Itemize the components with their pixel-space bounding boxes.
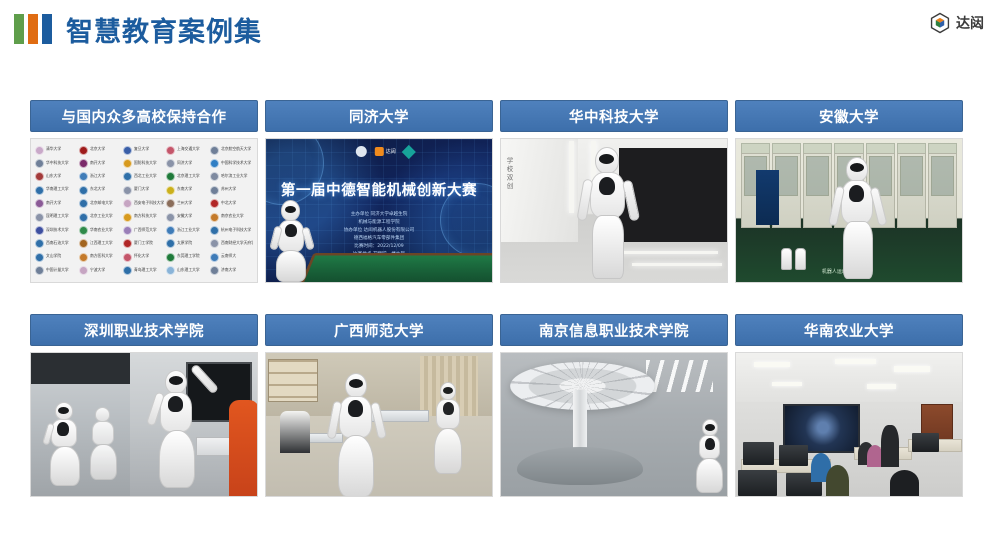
case-card-grid: 与国内众多高校保持合作 清华大学北京大学复旦大学上海交通大学北京航空航天大学华中… [30, 100, 970, 528]
service-robot-illustration [695, 419, 725, 493]
university-seal-icon [35, 226, 44, 235]
university-logo-item: 同济大学 [166, 157, 209, 169]
grid-cell: 深圳职业技术学院 [30, 314, 265, 528]
monitor-decoration [743, 442, 775, 465]
case-card[interactable]: 广西师范大学 [265, 314, 493, 497]
university-seal-icon [210, 213, 219, 222]
case-card[interactable]: 同济大学 达闼 第一届中德智能机械创新大赛 [265, 100, 493, 283]
case-card[interactable]: 与国内众多高校保持合作 清华大学北京大学复旦大学上海交通大学北京航空航天大学华中… [30, 100, 258, 283]
university-logo-item: 太原学院 [166, 238, 209, 250]
university-logo-item: 北京理工大学 [166, 171, 209, 183]
university-name-label: 北京工业大学 [90, 215, 113, 219]
ceiling-light-panel-decoration [772, 382, 801, 386]
university-seal-icon [123, 146, 132, 155]
university-name-label: 中国计量大学 [46, 269, 69, 273]
brand-name: 达闼 [956, 13, 984, 33]
university-logo-item: 东莞理工学院 [166, 251, 209, 263]
university-logo-item: 北京邮电大学 [79, 198, 122, 210]
case-card[interactable]: 安徽大学 [735, 100, 963, 283]
university-seal-icon [35, 239, 44, 248]
university-name-label: 华南农业大学 [90, 229, 113, 233]
university-name-label: 济南大学 [221, 269, 236, 273]
university-logo-item: 山东大学 [35, 171, 78, 183]
university-name-label: 清华大学 [46, 148, 61, 152]
monitor-decoration [738, 470, 776, 496]
university-seal-icon [210, 266, 219, 275]
university-seal-icon [35, 159, 44, 168]
university-name-label: 复旦大学 [134, 148, 149, 152]
slide-header: 智慧教育案例集 达闼 [0, 0, 1000, 58]
university-seal-icon [79, 146, 88, 155]
university-logo-item: 山东理工大学 [166, 265, 209, 277]
banner-logo-row: 达闼 [356, 146, 414, 157]
competition-banner-photo: 达闼 第一届中德智能机械创新大赛 主办单位 同济大学卓越生院机械与能源工程学院协… [266, 139, 492, 282]
monitor-decoration [912, 433, 939, 452]
university-logo-item: 文山学院 [35, 251, 78, 263]
university-logo-item: 清华大学 [35, 144, 78, 156]
university-seal-icon [210, 186, 219, 195]
student-decoration [890, 470, 919, 496]
university-logo-item: 中北大学 [210, 198, 253, 210]
university-seal-icon [166, 253, 175, 262]
university-name-label: 兰州大学 [177, 202, 192, 206]
university-logo-item: 复旦大学 [123, 144, 166, 156]
university-logo-item: 北京工业大学 [79, 211, 122, 223]
university-seal-icon [210, 239, 219, 248]
university-name-label: 南开大学 [90, 162, 105, 166]
card-media [265, 352, 493, 497]
grid-cell: 华南农业大学 [735, 314, 970, 528]
university-name-label: 西北工业大学 [134, 175, 157, 179]
university-logo-item: 济南大学 [210, 265, 253, 277]
ceiling-light-panel-decoration [835, 359, 876, 365]
university-seal-icon [35, 172, 44, 181]
university-name-label: 东北大学 [90, 188, 105, 192]
university-logo-item: 广西师范大学 [123, 224, 166, 236]
card-media [500, 352, 728, 497]
card-title: 与国内众多高校保持合作 [30, 100, 258, 132]
lab-cabinets-robot-photo: 机器人运动展示中 [736, 139, 962, 282]
seated-person-decoration [280, 411, 310, 453]
university-logo-item: 宁波大学 [79, 265, 122, 277]
university-seal-icon [79, 172, 88, 181]
humanoid-robot-illustration [151, 370, 203, 488]
university-seal-icon [210, 253, 219, 262]
university-logo-item: 中国科学技术大学 [210, 157, 253, 169]
partner-logo-icon [402, 144, 416, 158]
service-robot-illustration [45, 402, 85, 486]
university-seal-icon [123, 172, 132, 181]
university-logo-item: 南开大学 [35, 198, 78, 210]
university-name-label: 哈尔滨工业大学 [221, 175, 247, 179]
university-name-label: 国防科技大学 [134, 162, 157, 166]
university-seal-icon [79, 239, 88, 248]
hexagon-cube-logo-icon [929, 12, 951, 34]
blue-poster-decoration [756, 170, 779, 224]
case-card[interactable]: 深圳职业技术学院 [30, 314, 258, 497]
university-name-label: 山东理工大学 [177, 269, 200, 273]
university-logo-item: 华南理工大学 [35, 184, 78, 196]
university-name-label: 东莞理工学院 [177, 255, 200, 259]
university-seal-icon [123, 186, 132, 195]
university-name-label: 山东大学 [46, 175, 61, 179]
university-seal-icon [166, 199, 175, 208]
university-name-label: 同济大学 [177, 162, 192, 166]
grid-cell: 南京信息职业技术学院 [500, 314, 735, 528]
university-name-label: 中国科学技术大学 [221, 162, 251, 166]
university-logo-item: 中国计量大学 [35, 265, 78, 277]
university-seal-icon [166, 226, 175, 235]
university-seal-icon [35, 266, 44, 275]
humanoid-robot-illustration [272, 200, 312, 282]
university-seal-icon [166, 146, 175, 155]
card-title: 同济大学 [265, 100, 493, 132]
university-logo-item: 云南师大 [210, 251, 253, 263]
university-seal-icon [210, 199, 219, 208]
ceiling-light-panel-decoration [754, 362, 790, 368]
card-media: 达闼 第一届中德智能机械创新大赛 主办单位 同济大学卓越生院机械与能源工程学院协… [265, 138, 493, 283]
university-seal-icon [210, 226, 219, 235]
university-seal-icon [35, 213, 44, 222]
university-name-label: 文山学院 [46, 255, 61, 259]
grid-cell: 华中科技大学 学校双创 [500, 100, 735, 314]
university-name-label: 南开大学 [46, 202, 61, 206]
university-name-label: 深圳技术大学 [46, 229, 69, 233]
university-name-label: 浙江大学 [90, 175, 105, 179]
ceiling-light-panel-decoration [867, 384, 896, 388]
pool-table-decoration [299, 253, 492, 282]
grid-cell: 广西师范大学 [265, 314, 500, 528]
atrium-circular-ceiling-photo [501, 353, 727, 496]
university-seal-icon [35, 253, 44, 262]
university-seal-icon [210, 146, 219, 155]
computer-classroom-photo [736, 353, 962, 496]
card-media: 学校双创 [500, 138, 728, 283]
card-title: 南京信息职业技术学院 [500, 314, 728, 346]
university-seal-icon [35, 186, 44, 195]
bookshelf-decoration [268, 359, 318, 402]
card-media [735, 352, 963, 497]
university-logo-item: 怀化大学 [123, 251, 166, 263]
university-logo-item: 东北大学 [79, 184, 122, 196]
classroom-two-robots-photo [266, 353, 492, 496]
university-name-label: 华中科技大学 [46, 162, 69, 166]
grid-cell: 安徽大学 [735, 100, 970, 314]
university-name-label: 厦门大学 [134, 188, 149, 192]
humanoid-robot-illustration [429, 382, 467, 474]
university-seal-icon [79, 159, 88, 168]
card-title: 广西师范大学 [265, 314, 493, 346]
humanoid-robot-illustration [329, 373, 383, 496]
university-seal-icon [166, 213, 175, 222]
university-name-label: 苏州大学 [221, 188, 236, 192]
university-name-label: 西南石油大学 [46, 242, 69, 246]
university-logo-wall: 清华大学北京大学复旦大学上海交通大学北京航空航天大学华中科技大学南开大学国防科技… [31, 139, 257, 282]
humanoid-robot-illustration [578, 147, 636, 279]
university-logo-item: 南开大学 [79, 157, 122, 169]
university-name-label: 昆明理工大学 [46, 215, 69, 219]
ceiling-light-panel-decoration [894, 366, 930, 372]
monitor-decoration [779, 445, 808, 466]
university-logo-item: 青岛理工大学 [123, 265, 166, 277]
university-logo-item: 华中科技大学 [35, 157, 78, 169]
university-logo-item: 厦门工学院 [123, 238, 166, 250]
light-strip-decoration [632, 263, 722, 266]
university-seal-icon [35, 199, 44, 208]
page-title: 智慧教育案例集 [66, 10, 262, 49]
university-logo-item: 昆明理工大学 [35, 211, 78, 223]
university-seal-icon [123, 266, 132, 275]
university-seal-icon [210, 159, 219, 168]
accent-bar-blue [42, 14, 52, 44]
student-decoration [826, 465, 849, 496]
university-name-label: 太原学院 [177, 242, 192, 246]
brand-lockup: 达闼 [929, 12, 984, 34]
dada-logo-icon: 达闼 [375, 147, 396, 156]
university-logo-item: 浙江工业大学 [166, 224, 209, 236]
university-seal-icon [123, 159, 132, 168]
card-media [30, 352, 258, 497]
corridor-robot-photo: 学校双创 [501, 139, 727, 282]
accent-bars-decoration [14, 14, 52, 44]
university-logo-item: 安徽大学 [166, 211, 209, 223]
university-name-label: 江西理工大学 [90, 242, 113, 246]
card-media: 清华大学北京大学复旦大学上海交通大学北京航空航天大学华中科技大学南开大学国防科技… [30, 138, 258, 283]
university-name-label: 北京大学 [90, 148, 105, 152]
curved-counter-decoration [517, 447, 644, 484]
university-logo-item: 西南石油大学 [35, 238, 78, 250]
university-seal-icon [79, 186, 88, 195]
university-logo-item: 杭州电子科技大学 [210, 224, 253, 236]
university-name-label: 西安电子科技大学 [134, 202, 164, 206]
university-name-label: 南京农业大学 [221, 215, 244, 219]
university-name-label: 北京航空航天大学 [221, 148, 251, 152]
case-card[interactable]: 南京信息职业技术学院 [500, 314, 728, 497]
university-logo-item: 西北工业大学 [123, 171, 166, 183]
card-title: 华南农业大学 [735, 314, 963, 346]
university-logo-item: 南方医科大学 [79, 251, 122, 263]
university-name-label: 东南大学 [177, 188, 192, 192]
humanoid-robot-illustration [831, 157, 883, 279]
university-name-label: 杭州电子科技大学 [221, 229, 251, 233]
university-seal-icon [166, 266, 175, 275]
card-title: 安徽大学 [735, 100, 963, 132]
university-name-label: 上海交通大学 [177, 148, 200, 152]
university-logo-item: 深圳技术大学 [35, 224, 78, 236]
university-logo-item: 华南农业大学 [79, 224, 122, 236]
university-logo-item: 西南财经大学天府学院 [210, 238, 253, 250]
university-name-label: 中北大学 [221, 202, 236, 206]
card-title: 华中科技大学 [500, 100, 728, 132]
grid-cell: 与国内众多高校保持合作 清华大学北京大学复旦大学上海交通大学北京航空航天大学华中… [30, 100, 265, 314]
accent-bar-orange [28, 14, 38, 44]
photo-panel-left [31, 353, 130, 496]
university-seal-icon [79, 253, 88, 262]
light-strip-decoration [569, 141, 574, 213]
university-name-label: 宁波大学 [90, 269, 105, 273]
ceiling-lights-decoration [646, 360, 714, 391]
card-title: 深圳职业技术学院 [30, 314, 258, 346]
university-logo-item: 浙江大学 [79, 171, 122, 183]
university-name-label: 云南师大 [221, 255, 236, 259]
banner-headline: 第一届中德智能机械创新大赛 [266, 179, 492, 200]
exhibition-two-panel-photo [31, 353, 257, 496]
university-name-label: 南方医科大学 [90, 255, 113, 259]
wall-vertical-text: 学校双创 [504, 157, 514, 191]
university-logo-item: 北京航空航天大学 [210, 144, 253, 156]
university-seal-icon [35, 146, 44, 155]
university-seal-icon [123, 213, 132, 222]
university-seal-icon [123, 253, 132, 262]
university-seal-icon [166, 159, 175, 168]
slide-canvas: 智慧教育案例集 达闼 与国内众多高校保持合作 清华大学北京大学复旦大学上海交通大… [0, 0, 1000, 538]
university-logo-item: 西安电子科技大学 [123, 198, 166, 210]
person-orange-shirt-decoration [229, 400, 257, 496]
university-seal-icon [123, 199, 132, 208]
university-seal-icon [166, 186, 175, 195]
university-logo-item: 兰州大学 [166, 198, 209, 210]
accent-bar-green [14, 14, 24, 44]
case-card[interactable]: 华南农业大学 [735, 314, 963, 497]
university-name-label: 南方科技大学 [134, 215, 157, 219]
small-robot-toy-decoration [795, 248, 806, 270]
university-seal-icon [356, 146, 367, 157]
card-media: 机器人运动展示中 [735, 138, 963, 283]
university-logo-item: 南方科技大学 [123, 211, 166, 223]
ceiling-band-decoration [31, 353, 130, 384]
university-name-label: 安徽大学 [177, 215, 192, 219]
university-logo-item: 南京农业大学 [210, 211, 253, 223]
case-card[interactable]: 华中科技大学 学校双创 [500, 100, 728, 283]
service-robot-illustration [87, 407, 121, 481]
small-robot-toy-decoration [781, 248, 792, 270]
university-name-label: 青岛理工大学 [134, 269, 157, 273]
university-name-label: 浙江工业大学 [177, 229, 200, 233]
university-seal-icon [123, 226, 132, 235]
university-logo-item: 苏州大学 [210, 184, 253, 196]
university-seal-icon [166, 239, 175, 248]
university-seal-icon [123, 239, 132, 248]
grid-cell: 同济大学 达闼 第一届中德智能机械创新大赛 [265, 100, 500, 314]
university-seal-icon [166, 172, 175, 181]
university-name-label: 怀化大学 [134, 255, 149, 259]
university-name-label: 北京邮电大学 [90, 202, 113, 206]
university-name-label: 西南财经大学天府学院 [221, 242, 253, 246]
university-seal-icon [79, 213, 88, 222]
university-logo-item: 国防科技大学 [123, 157, 166, 169]
university-seal-icon [210, 172, 219, 181]
university-name-label: 华南理工大学 [46, 188, 69, 192]
university-logo-item: 东南大学 [166, 184, 209, 196]
university-logo-item: 哈尔滨工业大学 [210, 171, 253, 183]
university-logo-item: 江西理工大学 [79, 238, 122, 250]
university-logo-item: 北京大学 [79, 144, 122, 156]
university-name-label: 北京理工大学 [177, 175, 200, 179]
university-name-label: 厦门工学院 [134, 242, 153, 246]
university-logo-item: 厦门大学 [123, 184, 166, 196]
university-seal-icon [79, 226, 88, 235]
university-seal-icon [79, 266, 88, 275]
standing-instructor-decoration [881, 425, 899, 468]
university-seal-icon [79, 199, 88, 208]
photo-panel-right [130, 353, 257, 496]
university-name-label: 广西师范大学 [134, 229, 157, 233]
university-logo-item: 上海交通大学 [166, 144, 209, 156]
